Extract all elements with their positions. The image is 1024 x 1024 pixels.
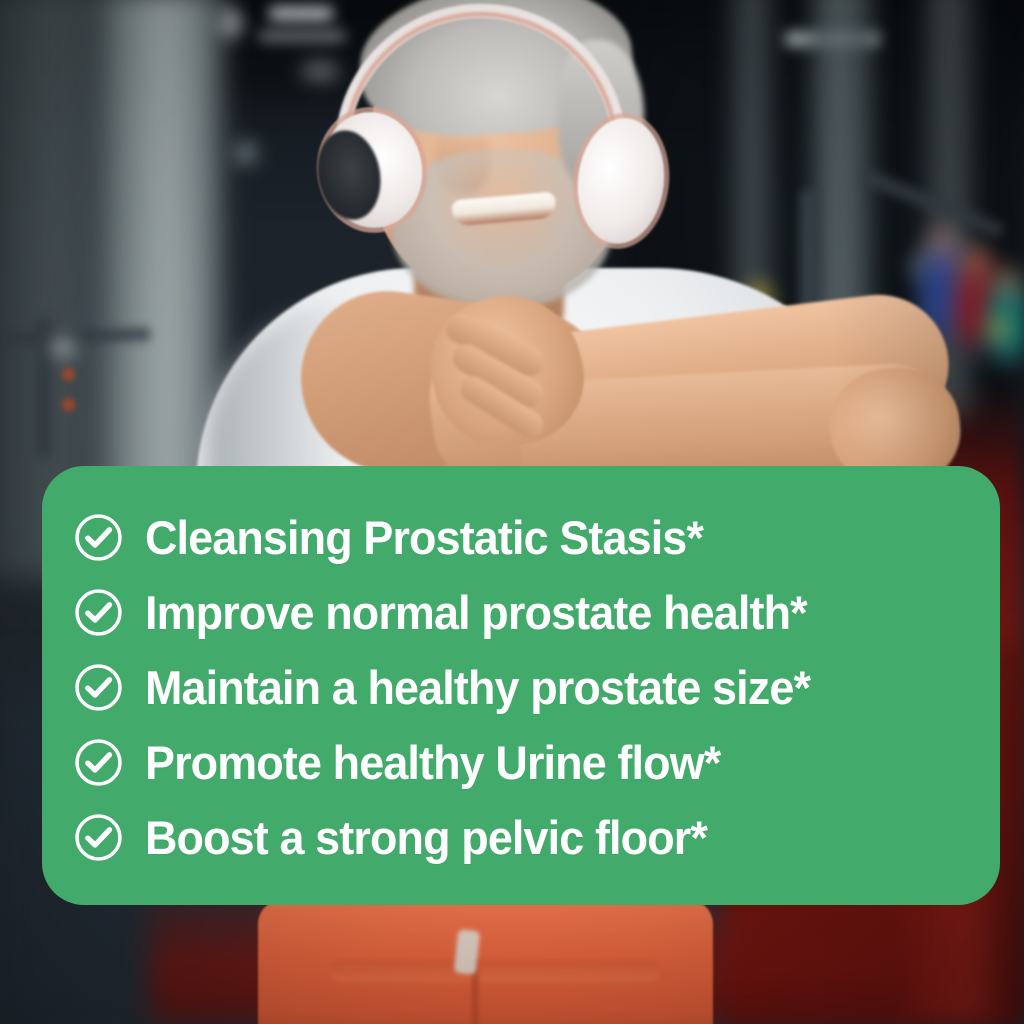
check-circle-icon [74,513,123,562]
benefit-label: Boost a strong pelvic floor* [145,814,707,861]
benefit-item: Maintain a healthy prostate size* [74,650,970,725]
benefit-label: Cleansing Prostatic Stasis* [145,514,703,561]
benefit-label: Maintain a healthy prostate size* [145,664,810,711]
promo-graphic: Cleansing Prostatic Stasis* Improve norm… [0,0,1024,1024]
benefit-item: Improve normal prostate health* [74,575,970,650]
shorts-drawstring [454,929,480,975]
check-circle-icon [74,813,123,862]
benefit-item: Cleansing Prostatic Stasis* [74,500,970,575]
benefit-label: Improve normal prostate health* [145,589,807,636]
benefits-card: Cleansing Prostatic Stasis* Improve norm… [42,466,1000,905]
benefit-label: Promote healthy Urine flow* [145,739,720,786]
benefit-item: Promote healthy Urine flow* [74,725,970,800]
check-circle-icon [74,738,123,787]
shorts-waistband [330,960,660,982]
check-circle-icon [74,588,123,637]
check-circle-icon [74,663,123,712]
benefit-item: Boost a strong pelvic floor* [74,800,970,875]
